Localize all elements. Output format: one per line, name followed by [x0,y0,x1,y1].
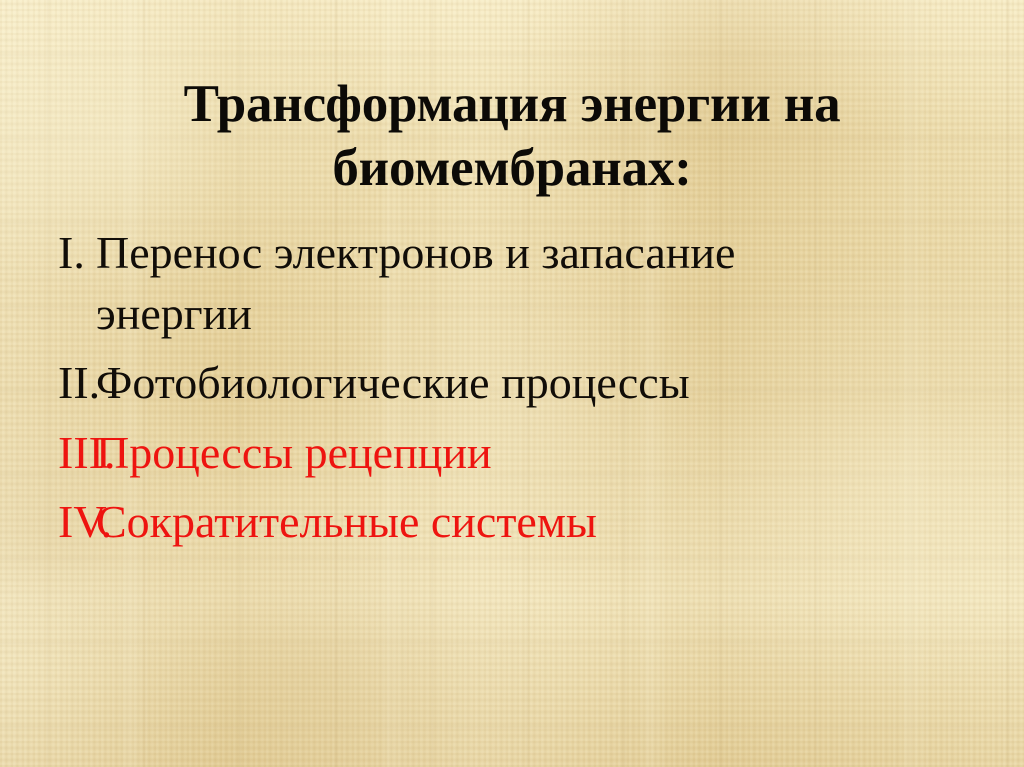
list-item-marker-2: II. [0,352,96,413]
list-item-text-2: Фотобиологические процессы [96,352,958,413]
list-item-marker-1: I. [0,222,96,283]
slide-content: Трансформация энергии на биомембранах: I… [0,0,1024,767]
list-item: III. Процессы рецепции [0,422,1024,483]
slide-title-line-2: биомембранах: [332,139,691,197]
slide-title: Трансформация энергии на биомембранах: [60,72,964,201]
presentation-slide: Трансформация энергии на биомембранах: I… [0,0,1024,767]
slide-title-line-1: Трансформация энергии на [184,75,841,133]
list-item-marker-4: IV. [0,491,96,552]
list-item: II. Фотобиологические процессы [0,352,1024,413]
list-item-text-1: Перенос электронов и запасание энергии [96,222,958,344]
list-item: I. Перенос электронов и запасание энерги… [0,222,1024,344]
list-item-text-3: Процессы рецепции [96,422,958,483]
list-item-text-4: Сократительные системы [96,491,958,552]
outline-list: I. Перенос электронов и запасание энерги… [0,222,1024,560]
list-item: IV. Сократительные системы [0,491,1024,552]
list-item-marker-3: III. [0,422,96,483]
